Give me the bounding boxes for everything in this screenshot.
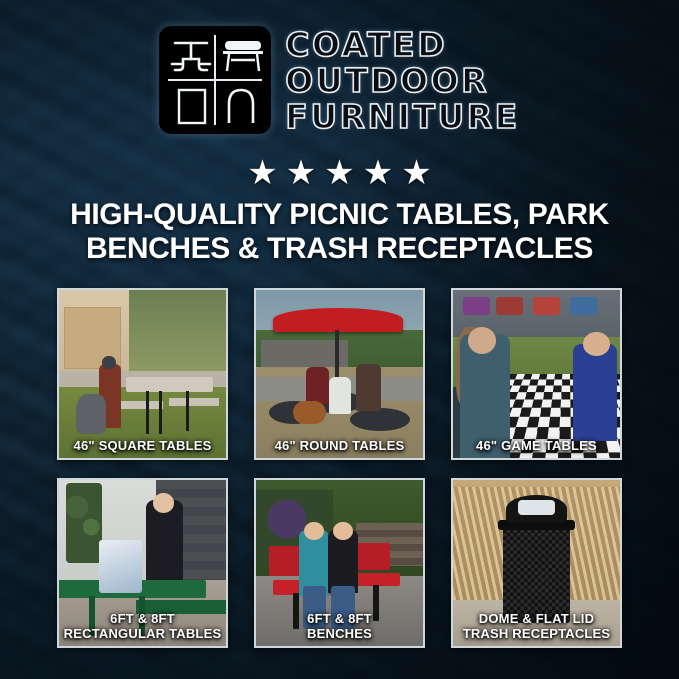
product-tile-benches[interactable]: 6FT & 8FT BENCHES	[254, 478, 425, 648]
headline-line-1: HIGH-QUALITY PICNIC TABLES, PARK	[30, 198, 649, 232]
caption-line-2: BENCHES	[259, 626, 420, 641]
brand-logo: COATED OUTDOOR FURNITURE	[0, 26, 679, 135]
caption-line-1: 6FT & 8FT	[110, 611, 175, 626]
product-caption-rectangular-tables: 6FT & 8FT RECTANGULAR TABLES	[62, 611, 223, 641]
star-rating: ★ ★ ★ ★ ★	[0, 156, 679, 190]
star-icon-1: ★	[247, 156, 277, 190]
caption-line-1: DOME & FLAT LID	[479, 611, 594, 626]
promo-banner: COATED OUTDOOR FURNITURE ★ ★ ★ ★ ★ HIGH-…	[0, 0, 679, 679]
star-icon-3: ★	[324, 156, 354, 190]
star-icon-5: ★	[401, 156, 431, 190]
product-tile-trash-receptacles[interactable]: DOME & FLAT LID TRASH RECEPTACLES	[451, 478, 622, 648]
product-grid: 46" SQUARE TABLES 46"	[57, 288, 622, 648]
caption-line-1: 46" SQUARE TABLES	[74, 438, 212, 453]
logo-mark-icon	[159, 26, 271, 134]
headline-line-2: BENCHES & TRASH RECEPTACLES	[30, 232, 649, 266]
product-photo-square-tables	[59, 290, 226, 458]
brand-wordmark: COATED OUTDOOR FURNITURE	[285, 26, 519, 135]
product-tile-square-tables[interactable]: 46" SQUARE TABLES	[57, 288, 228, 460]
star-icon-2: ★	[286, 156, 316, 190]
wordmark-line-1: COATED	[285, 27, 447, 63]
product-photo-round-tables	[256, 290, 423, 458]
caption-line-1: 46" ROUND TABLES	[275, 438, 405, 453]
caption-line-1: 46" GAME TABLES	[476, 438, 597, 453]
caption-line-2: RECTANGULAR TABLES	[62, 626, 223, 641]
star-icon-4: ★	[363, 156, 393, 190]
wordmark-line-2: OUTDOOR	[285, 63, 489, 99]
product-caption-round-tables: 46" ROUND TABLES	[259, 438, 420, 453]
product-caption-benches: 6FT & 8FT BENCHES	[259, 611, 420, 641]
wordmark-line-3: FURNITURE	[285, 99, 519, 135]
caption-line-2: TRASH RECEPTACLES	[456, 626, 617, 641]
product-caption-game-tables: 46" GAME TABLES	[456, 438, 617, 453]
product-tile-round-tables[interactable]: 46" ROUND TABLES	[254, 288, 425, 460]
product-tile-game-tables[interactable]: 46" GAME TABLES	[451, 288, 622, 460]
product-caption-trash-receptacles: DOME & FLAT LID TRASH RECEPTACLES	[456, 611, 617, 641]
product-photo-game-tables	[453, 290, 620, 458]
product-caption-square-tables: 46" SQUARE TABLES	[62, 438, 223, 453]
logo-grid-icon	[159, 26, 271, 134]
page-title: HIGH-QUALITY PICNIC TABLES, PARK BENCHES…	[30, 198, 649, 266]
caption-line-1: 6FT & 8FT	[307, 611, 372, 626]
product-tile-rectangular-tables[interactable]: 6FT & 8FT RECTANGULAR TABLES	[57, 478, 228, 648]
